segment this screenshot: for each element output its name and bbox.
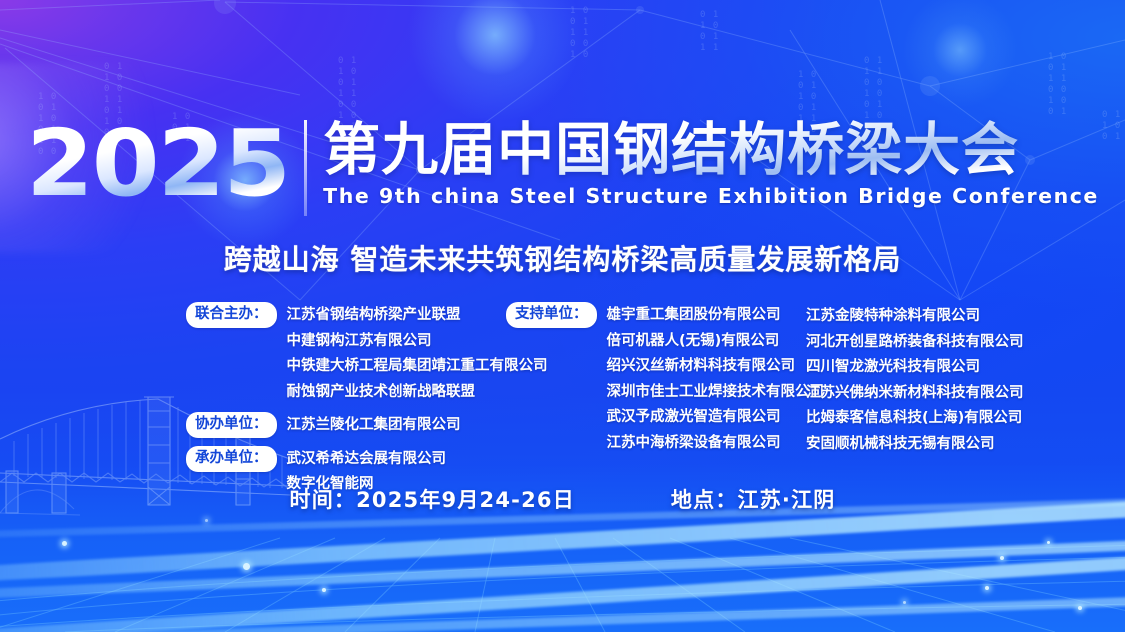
poster-content: 2025 第九届中国钢结构桥梁大会 The 9th china Steel St… bbox=[0, 0, 1125, 632]
title-row: 2025 第九届中国钢结构桥梁大会 The 9th china Steel St… bbox=[0, 118, 1125, 216]
organizer-label-badge: 联合主办： bbox=[186, 302, 277, 328]
organizers-section: 联合主办： 江苏省钢结构桥梁产业联盟 中建钢构江苏有限公司 中铁建大桥工程局集团… bbox=[186, 302, 1065, 505]
list-item: 江苏兴佛纳米新材料科技有限公司 bbox=[806, 381, 1046, 407]
organizer-group: 联合主办： 江苏省钢结构桥梁产业联盟 中建钢构江苏有限公司 中铁建大桥工程局集团… bbox=[186, 302, 504, 405]
organizer-label-badge: 承办单位： bbox=[186, 446, 277, 472]
footer-info: 时间：2025年9月24-26日 地点：江苏·江阴 bbox=[0, 484, 1125, 514]
list-item: 江苏兰陵化工集团有限公司 bbox=[287, 413, 461, 439]
organizer-group: 支持单位： 雄宇重工集团股份有限公司 倍可机器人(无锡)有限公司 绍兴汉丝新材料… bbox=[506, 302, 806, 456]
list-item: 江苏中海桥梁设备有限公司 bbox=[607, 431, 825, 457]
list-item: 雄宇重工集团股份有限公司 bbox=[607, 303, 825, 329]
list-item: 深圳市佳士工业焊接技术有限公司 bbox=[607, 380, 825, 406]
list-item: 江苏金陵特种涂料有限公司 bbox=[806, 304, 1046, 330]
list-item: 河北开创星路桥装备科技有限公司 bbox=[806, 330, 1046, 356]
list-item: 比姆泰客信息科技(上海)有限公司 bbox=[806, 406, 1046, 432]
list-item: 四川智龙激光科技有限公司 bbox=[806, 355, 1046, 381]
title-block: 第九届中国钢结构桥梁大会 The 9th china Steel Structu… bbox=[323, 118, 1099, 208]
organizer-group: 协办单位： 江苏兰陵化工集团有限公司 bbox=[186, 412, 504, 439]
list-item: 倍可机器人(无锡)有限公司 bbox=[607, 329, 825, 355]
organizer-entry-list: 雄宇重工集团股份有限公司 倍可机器人(无锡)有限公司 绍兴汉丝新材料科技有限公司… bbox=[607, 302, 825, 456]
year-2025: 2025 bbox=[26, 118, 306, 210]
organizers-column-right: 江苏金陵特种涂料有限公司 河北开创星路桥装备科技有限公司 四川智龙激光科技有限公… bbox=[806, 302, 1046, 457]
organizer-label-badge: 支持单位： bbox=[506, 302, 597, 328]
page-title: 第九届中国钢结构桥梁大会 bbox=[323, 118, 1099, 182]
organizer-entry-list: 江苏兰陵化工集团有限公司 bbox=[287, 412, 461, 439]
list-item: 绍兴汉丝新材料科技有限公司 bbox=[607, 354, 825, 380]
organizers-column-middle: 支持单位： 雄宇重工集团股份有限公司 倍可机器人(无锡)有限公司 绍兴汉丝新材料… bbox=[506, 302, 806, 463]
event-date: 时间：2025年9月24-26日 bbox=[290, 484, 575, 514]
list-item: 武汉予成激光智造有限公司 bbox=[607, 405, 825, 431]
organizer-label-badge: 协办单位： bbox=[186, 412, 277, 438]
list-item: 武汉希希达会展有限公司 bbox=[287, 447, 447, 473]
list-item: 安固顺机械科技无锡有限公司 bbox=[806, 432, 1046, 458]
slogan: 跨越山海 智造未来共筑钢结构桥梁高质量发展新格局 bbox=[0, 238, 1125, 278]
event-location: 地点：江苏·江阴 bbox=[671, 484, 836, 514]
organizers-column-left: 联合主办： 江苏省钢结构桥梁产业联盟 中建钢构江苏有限公司 中铁建大桥工程局集团… bbox=[186, 302, 504, 505]
english-title: The 9th china Steel Structure Exhibition… bbox=[323, 184, 1099, 208]
conference-poster: 1 0 0 1 1 0 0 1 1 1 0 0 0 1 1 0 0 0 1 1 … bbox=[0, 0, 1125, 632]
